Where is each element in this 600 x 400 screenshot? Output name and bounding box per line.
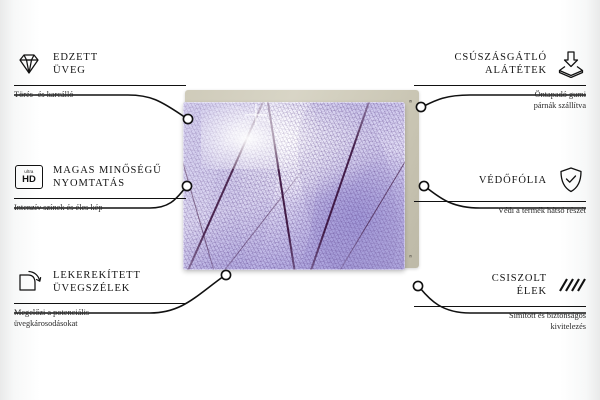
feature-subtitle: Védi a termék hátsó részét	[414, 206, 586, 217]
feature-subtitle: Öntapadó gumi párnák szállítva	[414, 90, 586, 111]
feature-title: CSÚSZÁSGÁTLÓ ALÁTÉTEK	[455, 51, 547, 77]
glass-panel	[183, 102, 405, 270]
feature-magas-minosegu-nyomtatas: ultra HD MAGAS MINŐSÉGŰ NYOMTATÁS Intenz…	[14, 160, 186, 214]
feature-divider	[14, 85, 186, 86]
feature-header: CSISZOLT ÉLEK	[414, 268, 586, 302]
mounting-hole	[409, 255, 412, 258]
ultra-hd-large-label: HD	[22, 175, 36, 185]
diamond-icon	[14, 49, 44, 79]
rounded-corner-icon	[14, 267, 44, 297]
feature-subtitle: Intenzív színek és éles kép	[14, 203, 186, 214]
feature-header: VÉDŐFÓLIA	[414, 163, 586, 197]
feature-divider	[414, 85, 586, 86]
feature-subtitle: Simított és biztonságos kivitelezés	[414, 311, 586, 332]
feature-divider	[14, 198, 186, 199]
polished-edges-icon	[556, 270, 586, 300]
feature-vedofolia: VÉDŐFÓLIA Védi a termék hátsó részét	[414, 163, 586, 217]
feature-header: EDZETT ÜVEG	[14, 47, 186, 81]
leaf-artwork	[183, 102, 405, 270]
feature-title: MAGAS MINŐSÉGŰ NYOMTATÁS	[53, 164, 162, 190]
feature-header: CSÚSZÁSGÁTLÓ ALÁTÉTEK	[414, 47, 586, 81]
feature-edzett-uveg: EDZETT ÜVEG Törés- és karcálló	[14, 47, 186, 101]
ultra-hd-badge-icon: ultra HD	[14, 162, 44, 192]
feature-title: VÉDŐFÓLIA	[479, 174, 547, 187]
shield-check-icon	[556, 165, 586, 195]
feature-subtitle: Megelőzi a potenciális üvegkárosodásokat	[14, 308, 186, 329]
feature-divider	[414, 201, 586, 202]
feature-divider	[414, 306, 586, 307]
feature-subtitle: Törés- és karcálló	[14, 90, 186, 101]
infographic-page: EDZETT ÜVEG Törés- és karcálló ultra HD …	[0, 0, 600, 400]
feature-csuszasgatlo-alatetek: CSÚSZÁSGÁTLÓ ALÁTÉTEK Öntapadó gumi párn…	[414, 47, 586, 111]
leaf-vein-mesh	[183, 102, 405, 270]
feature-header: ultra HD MAGAS MINŐSÉGŰ NYOMTATÁS	[14, 160, 186, 194]
feature-title: CSISZOLT ÉLEK	[492, 272, 547, 298]
feature-csiszolt-elek: CSISZOLT ÉLEK Simított és biztonságos ki…	[414, 268, 586, 332]
anti-slip-pad-icon	[556, 49, 586, 79]
feature-header: LEKEREKÍTETT ÜVEGSZÉLEK	[14, 265, 186, 299]
product-image	[183, 90, 419, 272]
mounting-hole	[409, 100, 412, 103]
feature-title: EDZETT ÜVEG	[53, 51, 98, 77]
feature-title: LEKEREKÍTETT ÜVEGSZÉLEK	[53, 269, 141, 295]
feature-divider	[14, 303, 186, 304]
feature-lekerekitett-uvegszelek: LEKEREKÍTETT ÜVEGSZÉLEK Megelőzi a poten…	[14, 265, 186, 329]
